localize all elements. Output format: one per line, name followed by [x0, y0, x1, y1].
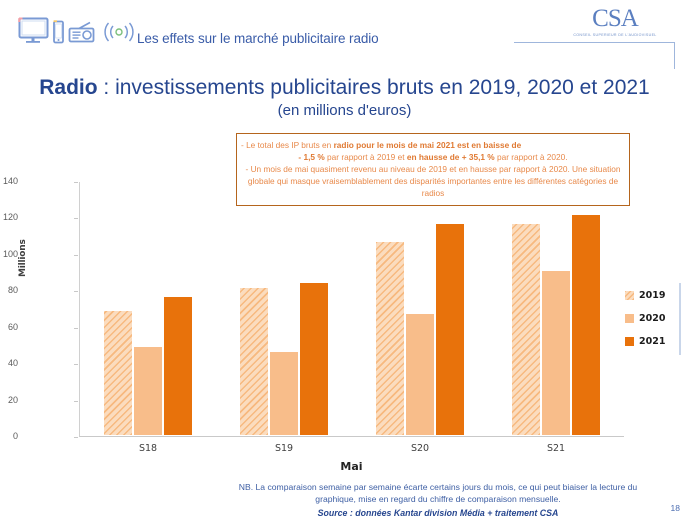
- csa-logo-subtitle: CONSEIL SUPERIEUR DE L'AUDIOVISUEL: [555, 33, 675, 37]
- page-title-rest: : investissements publicitaires bruts en…: [98, 76, 650, 99]
- legend-label-2020: 2020: [639, 313, 665, 324]
- header-icon-group: [18, 17, 137, 49]
- bar-s20-2020[interactable]: [406, 314, 434, 435]
- callout-line2-end: par rapport à 2020.: [495, 152, 568, 162]
- legend-item-2020[interactable]: 2020: [625, 313, 685, 324]
- callout-line-1: - Le total des IP bruts en radio pour le…: [245, 139, 621, 151]
- footer-source: Source : données Kantar division Média +…: [228, 507, 648, 520]
- y-axis-tick-label: 140: [0, 176, 18, 186]
- bar-s18-2019[interactable]: [104, 311, 132, 435]
- x-axis-tick-label: S20: [352, 443, 488, 454]
- footer-nb-text: NB. La comparaison semaine par semaine é…: [239, 482, 637, 504]
- radio-icon: [67, 19, 99, 49]
- y-axis-tick-mark: [74, 218, 78, 219]
- footer-note: NB. La comparaison semaine par semaine é…: [228, 481, 648, 520]
- smartphone-icon: [52, 19, 65, 49]
- bar-group-s20: S20: [352, 181, 488, 435]
- y-axis-title: Millions: [18, 239, 28, 277]
- x-axis-tick-label: S19: [216, 443, 352, 454]
- slide-header: Les effets sur le marché publicitaire ra…: [0, 0, 689, 60]
- page-subtitle: (en millions d'euros): [0, 102, 689, 119]
- header-title: Les effets sur le marché publicitaire ra…: [137, 31, 379, 46]
- legend-swatch-2019: [625, 291, 634, 300]
- bar-s20-2019[interactable]: [376, 242, 404, 435]
- header-bracket-divider: [514, 42, 675, 69]
- bar-s20-2021[interactable]: [436, 224, 464, 435]
- y-axis-tick-label: 100: [0, 249, 18, 259]
- legend-label-2019: 2019: [639, 290, 665, 301]
- broadcast-waves-icon: [101, 21, 137, 48]
- monitor-icon: [18, 17, 50, 49]
- y-axis-tick-mark: [74, 328, 78, 329]
- callout-line-2: - 1,5 % par rapport à 2019 et en hausse …: [245, 151, 621, 163]
- y-axis-tick-label: 80: [0, 285, 18, 295]
- y-axis-tick-mark: [74, 291, 78, 292]
- csa-logo-mark: CSA: [555, 6, 675, 32]
- bar-group-s19: S19: [216, 181, 352, 435]
- bar-s18-2021[interactable]: [164, 297, 192, 435]
- legend-swatch-2021: [625, 337, 634, 346]
- csa-logo: CSA CONSEIL SUPERIEUR DE L'AUDIOVISUEL: [555, 6, 675, 37]
- page-number: 18: [671, 503, 680, 513]
- x-axis-tick-label: S21: [488, 443, 624, 454]
- y-axis-tick-mark: [74, 364, 78, 365]
- y-axis-tick-label: 60: [0, 322, 18, 332]
- legend-item-2021[interactable]: 2021: [625, 336, 685, 347]
- callout-line1-bold: radio pour le mois de mai 2021 est en ba…: [334, 140, 522, 150]
- y-axis-tick-label: 40: [0, 358, 18, 368]
- y-axis-tick-mark: [74, 182, 78, 183]
- legend-item-2019[interactable]: 2019: [625, 290, 685, 301]
- bar-s21-2021[interactable]: [572, 215, 600, 435]
- callout-line2-bold-1: - 1,5 %: [298, 152, 324, 162]
- bar-group-s21: S21: [488, 181, 624, 435]
- y-axis-tick-label: 120: [0, 212, 18, 222]
- x-axis-tick-label: S18: [80, 443, 216, 454]
- callout-line2-bold-2: en hausse de + 35,1 %: [407, 152, 495, 162]
- bar-s19-2021[interactable]: [300, 283, 328, 435]
- bar-s18-2020[interactable]: [134, 347, 162, 435]
- bar-s21-2020[interactable]: [542, 271, 570, 435]
- bar-group-s18: S18: [80, 181, 216, 435]
- callout-line2-mid: par rapport à 2019 et: [325, 152, 407, 162]
- callout-line1-pre: - Le total des IP bruts en: [241, 140, 334, 150]
- page-title-emphasis: Radio: [39, 76, 97, 99]
- legend-label-2021: 2021: [639, 336, 665, 347]
- bar-s19-2019[interactable]: [240, 288, 268, 435]
- y-axis-tick-label: 0: [0, 431, 18, 441]
- bar-chart: Millions 020406080100120140 S18S19S20S21…: [22, 182, 622, 442]
- y-axis-tick-mark: [74, 437, 78, 438]
- y-axis-tick-mark: [74, 401, 78, 402]
- bar-s19-2020[interactable]: [270, 352, 298, 435]
- chart-legend: 201920202021: [625, 290, 685, 359]
- legend-swatch-2020: [625, 314, 634, 323]
- page-title: Radio : investissements publicitaires br…: [0, 76, 689, 100]
- plot-area: S18S19S20S21: [79, 182, 624, 437]
- bar-s21-2019[interactable]: [512, 224, 540, 435]
- y-axis-tick-label: 20: [0, 395, 18, 405]
- y-axis-tick-mark: [74, 255, 78, 256]
- x-axis-title: Mai: [79, 460, 624, 473]
